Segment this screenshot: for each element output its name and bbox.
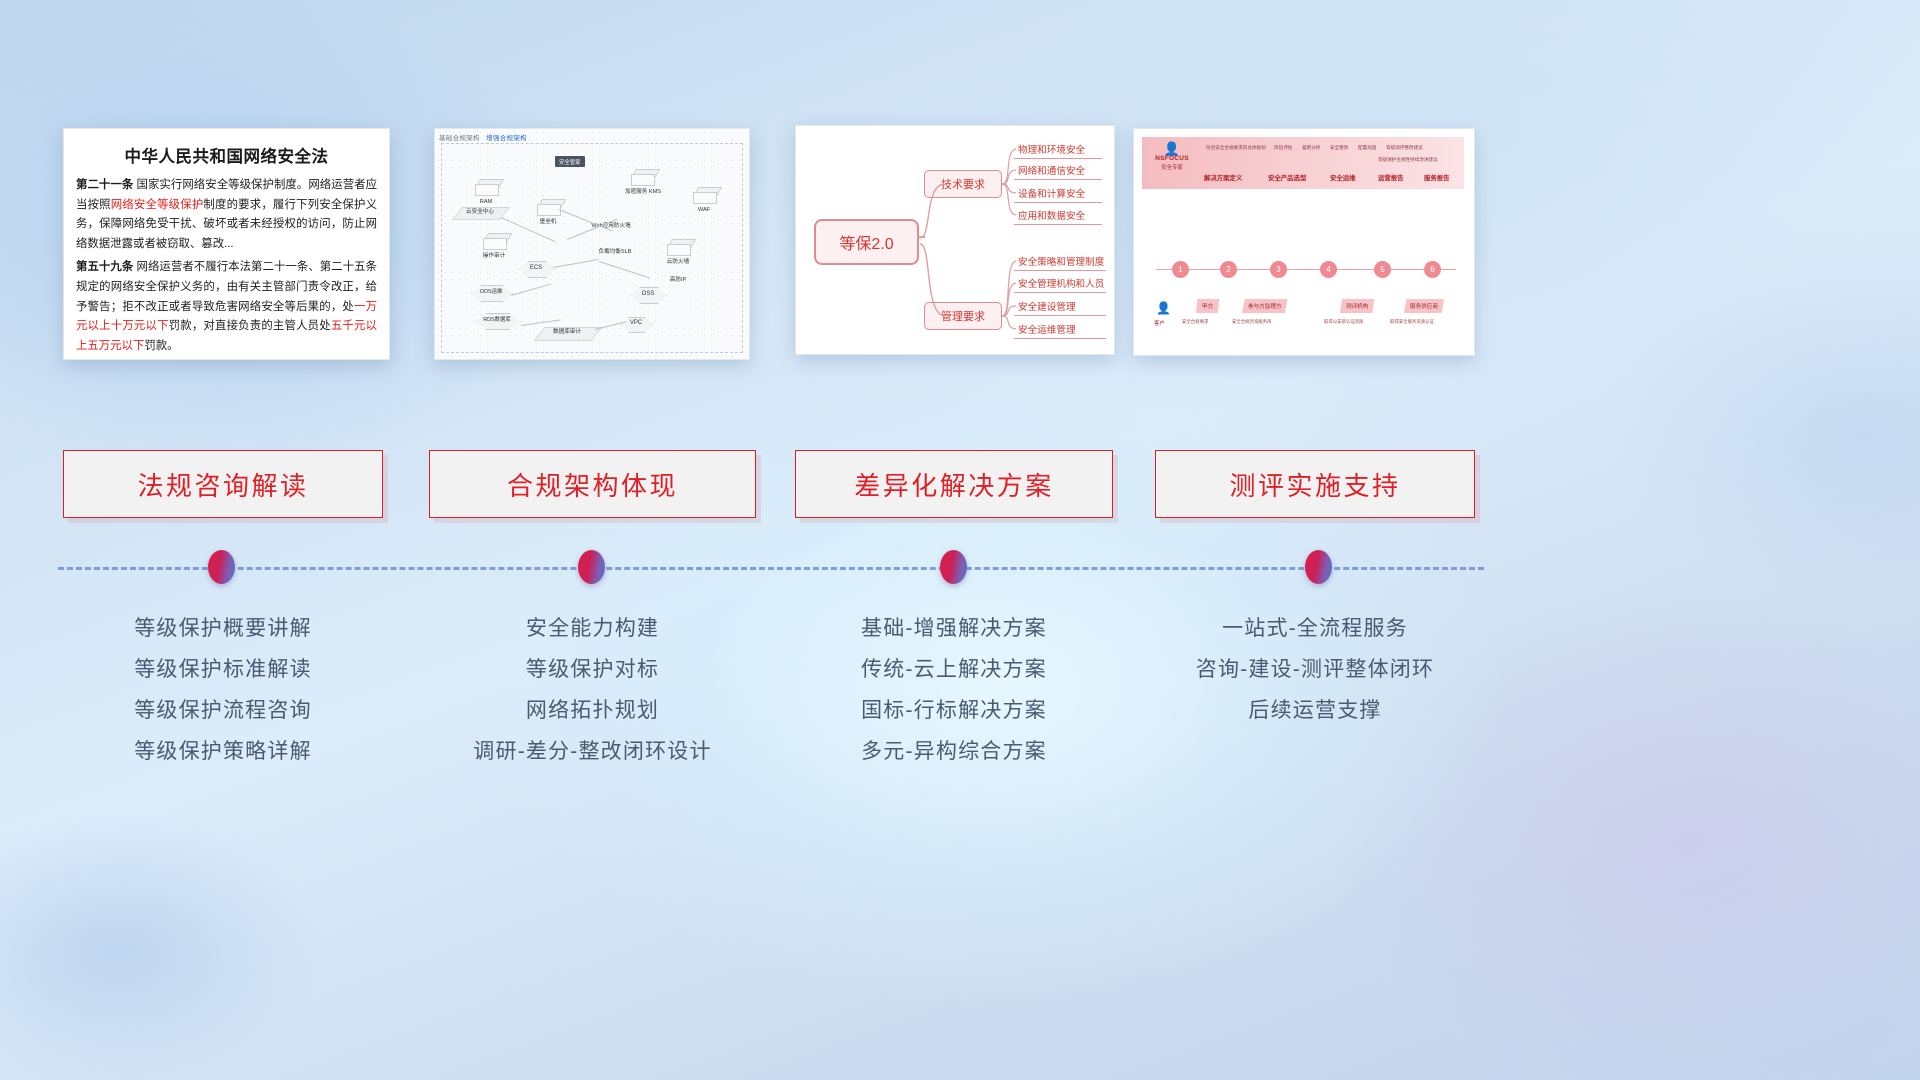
nsfocus-step: 5 <box>1374 261 1391 278</box>
arch-label-kms: 加密服务 KMS <box>617 189 669 196</box>
arch-node-cloud-fw <box>667 239 689 256</box>
arch-node-face <box>537 204 561 216</box>
arch-node-waf2 <box>693 187 715 204</box>
pillar-label-box-1[interactable]: 法规咨询解读 <box>63 450 383 518</box>
timeline-dashed-line <box>58 567 1484 570</box>
pillar-label-3: 差异化解决方案 <box>854 466 1054 503</box>
law-article-59-lead: 第五十九条 <box>76 261 133 273</box>
pillar-items-4: 一站式-全流程服务 咨询-建设-测评整体闭环 后续运营支撑 <box>1155 608 1475 731</box>
arch-node-face <box>693 192 717 204</box>
arch-header-left: 基础合规架构 <box>439 135 480 142</box>
nsfocus-band-item: 等级保护合规性持续改进建议 <box>1378 157 1438 163</box>
pillar-items-1: 等级保护概要讲解 等级保护标准解读 等级保护流程咨询 等级保护策略详解 <box>63 608 383 772</box>
law-paragraph-21: 第二十一条 国家实行网络安全等级保护制度。网络运营者应当按照网络安全等级保护制度… <box>76 176 377 254</box>
nsfocus-band-item: 等级测评整改建议 <box>1386 145 1423 151</box>
mindmap-leaf: 安全运维管理 <box>1014 319 1106 339</box>
list-item: 后续运营支撑 <box>1155 690 1475 731</box>
pillar-list-2: 安全能力构建 等级保护对标 网络拓扑规划 调研-差分-整改闭环设计 <box>429 608 756 772</box>
arch-label-oss: OSS <box>631 291 665 299</box>
nsfocus-step: 6 <box>1424 261 1441 278</box>
nsfocus-step: 3 <box>1270 261 1287 278</box>
timeline-dot-1[interactable] <box>208 550 235 584</box>
arch-node-ram <box>475 179 497 196</box>
nsfocus-caption: 服务报告 <box>1424 173 1450 182</box>
nsfocus-footer-sub: 安全合规咨询服务商 <box>1232 319 1272 325</box>
thumbnail-card-nsfocus[interactable]: 👤 NSFOCUS 安全专家 符合安全合规要求的总体规划 风险评估 差距分析 安… <box>1133 128 1475 356</box>
pillar-items-3: 基础-增强解决方案 传统-云上解决方案 国标-行标解决方案 多元-异构综合方案 <box>795 608 1113 772</box>
mindmap-leaf: 安全策略和管理制度 <box>1014 251 1106 271</box>
list-item: 安全能力构建 <box>429 608 756 649</box>
thumbnail-card-architecture[interactable]: 基础合规架构 增强合规架构 安全管家 RAM 云安全中心 堡垒机 操作审计 <box>434 128 750 360</box>
nsfocus-footer-tag: 甲方 <box>1196 299 1219 313</box>
arch-node-face <box>475 184 499 196</box>
list-item: 国标-行标解决方案 <box>795 690 1113 731</box>
nsfocus-brand-sub: 安全专家 <box>1148 163 1196 171</box>
nsfocus-footer-left-label: 客户 <box>1154 319 1165 327</box>
list-item: 等级保护标准解读 <box>63 649 383 690</box>
list-item: 等级保护对标 <box>429 649 756 690</box>
arch-label-ecs: ECS <box>519 265 553 273</box>
nsfocus-step: 1 <box>1172 261 1189 278</box>
nsfocus-caption: 运营报告 <box>1378 173 1404 182</box>
pillar-list-1: 等级保护概要讲解 等级保护标准解读 等级保护流程咨询 等级保护策略详解 <box>63 608 383 772</box>
architecture-diagram: 基础合规架构 增强合规架构 安全管家 RAM 云安全中心 堡垒机 操作审计 <box>435 129 749 359</box>
nsfocus-step: 4 <box>1320 261 1337 278</box>
nsfocus-step: 2 <box>1220 261 1237 278</box>
nsfocus-footer-tag: 参与方监理方 <box>1242 299 1288 313</box>
mindmap-branch-management: 管理要求 <box>924 302 1002 330</box>
arch-node-bastion <box>537 199 559 216</box>
law-run-highlight: 网络安全等级保护 <box>111 199 204 211</box>
nsfocus-footer-left: 👤 <box>1156 301 1171 315</box>
arch-label-slb: 负载均衡SLB <box>585 249 645 256</box>
nsfocus-timeline: 👤 NSFOCUS 安全专家 符合安全合规要求的总体规划 风险评估 差距分析 安… <box>1134 129 1474 355</box>
thumbnail-card-law[interactable]: 中华人民共和国网络安全法 第二十一条 国家实行网络安全等级保护制度。网络运营者应… <box>63 128 390 360</box>
list-item: 调研-差分-整改闭环设计 <box>429 731 756 772</box>
nsfocus-caption: 安全产品选型 <box>1268 173 1306 182</box>
arch-header-right: 增强合规架构 <box>486 135 527 142</box>
arch-label-oos: OOS运维 <box>471 289 511 296</box>
pillar-label-box-4[interactable]: 测评实施支持 <box>1155 450 1475 518</box>
nsfocus-caption: 安全运维 <box>1330 173 1356 182</box>
law-paragraph-59: 第五十九条 网络运营者不履行本法第二十一条、第二十五条规定的网络安全保护义务的，… <box>76 258 377 356</box>
nsfocus-axis <box>1156 269 1456 270</box>
mindmap-leaf: 应用和数据安全 <box>1014 205 1102 225</box>
arch-label-waf: WAF <box>687 207 721 214</box>
nsfocus-band-item: 风险评估 <box>1274 145 1292 151</box>
arch-label-rds: RDS数据库 <box>475 317 519 324</box>
nsfocus-footer-sub: 取得公安部认证资质 <box>1324 319 1364 325</box>
arch-label-bastion: 堡垒机 <box>531 219 565 226</box>
mindmap-leaf: 安全管理机构和人员 <box>1014 273 1106 293</box>
nsfocus-band-item: 差距分析 <box>1302 145 1320 151</box>
mindmap-leaf: 安全建设管理 <box>1014 296 1106 316</box>
timeline-dot-2[interactable] <box>578 550 605 584</box>
list-item: 咨询-建设-测评整体闭环 <box>1155 649 1475 690</box>
arch-badge-security-butler: 安全管家 <box>555 156 585 167</box>
thumbnail-card-mindmap[interactable]: 等保2.0 技术要求 管理要求 物理和环境安全 网络和通信安全 设备和计算安全 … <box>795 125 1115 355</box>
arch-node-audit <box>483 233 505 250</box>
arch-node-waf <box>631 169 653 186</box>
arch-label-db-audit: 数据库审计 <box>537 329 597 336</box>
list-item: 网络拓扑规划 <box>429 690 756 731</box>
pillar-label-box-3[interactable]: 差异化解决方案 <box>795 450 1113 518</box>
nsfocus-band-item: 符合安全合规要求的总体规划 <box>1206 145 1266 151</box>
mindmap-leaf: 网络和通信安全 <box>1014 160 1102 180</box>
slide-stage: 中华人民共和国网络安全法 第二十一条 国家实行网络安全等级保护制度。网络运营者应… <box>0 0 1920 1080</box>
law-document: 中华人民共和国网络安全法 第二十一条 国家实行网络安全等级保护制度。网络运营者应… <box>64 129 389 359</box>
mindmap-connector <box>919 236 925 238</box>
mindmap-branch-technical: 技术要求 <box>924 170 1002 198</box>
pillar-label-box-2[interactable]: 合规架构体现 <box>429 450 756 518</box>
arch-label-ddos: 高防IP <box>661 277 695 284</box>
mindmap-root: 等保2.0 <box>814 219 919 265</box>
pillar-list-4: 一站式-全流程服务 咨询-建设-测评整体闭环 后续运营支撑 <box>1155 608 1475 731</box>
mindmap: 等保2.0 技术要求 管理要求 物理和环境安全 网络和通信安全 设备和计算安全 … <box>796 126 1114 354</box>
nsfocus-brand: 👤 NSFOCUS 安全专家 <box>1148 143 1196 171</box>
pillar-label-2: 合规架构体现 <box>507 466 678 503</box>
nsfocus-footer-tag: 测评机构 <box>1340 299 1374 313</box>
nsfocus-band-item: 安全整改 <box>1330 145 1348 151</box>
nsfocus-band-item: 配置加固 <box>1358 145 1376 151</box>
person-icon: 👤 <box>1148 143 1196 155</box>
pillar-items-2: 安全能力构建 等级保护对标 网络拓扑规划 调研-差分-整改闭环设计 <box>429 608 756 772</box>
law-article-21-lead: 第二十一条 <box>76 179 133 191</box>
arch-label-ram: RAM <box>471 199 501 206</box>
pillar-label-1: 法规咨询解读 <box>137 466 308 503</box>
nsfocus-footer-tag: 服务供应商 <box>1404 299 1444 313</box>
arch-label-cloud-firewall: 云防火墙 <box>661 259 695 266</box>
list-item: 基础-增强解决方案 <box>795 608 1113 649</box>
arch-node-face <box>631 174 655 186</box>
nsfocus-footer-sub: 取得安全服务资质认证 <box>1390 319 1434 325</box>
list-item: 多元-异构综合方案 <box>795 731 1113 772</box>
nsfocus-caption: 解决方案定义 <box>1204 173 1242 182</box>
list-item: 等级保护流程咨询 <box>63 690 383 731</box>
law-title: 中华人民共和国网络安全法 <box>76 143 377 167</box>
list-item: 等级保护策略详解 <box>63 731 383 772</box>
pillar-label-4: 测评实施支持 <box>1229 466 1400 503</box>
law-run: 罚款，对直接负责的主管人员处 <box>169 320 331 332</box>
mindmap-leaf: 设备和计算安全 <box>1014 183 1102 203</box>
nsfocus-footer-sub: 安全合规要求 <box>1182 319 1208 325</box>
law-run: 罚款。 <box>144 340 178 352</box>
arch-node-face <box>667 244 691 256</box>
mindmap-leaf: 物理和环境安全 <box>1014 139 1102 159</box>
arch-node-face <box>483 238 507 250</box>
pillar-list-3: 基础-增强解决方案 传统-云上解决方案 国标-行标解决方案 多元-异构综合方案 <box>795 608 1113 772</box>
list-item: 等级保护概要讲解 <box>63 608 383 649</box>
arch-header: 基础合规架构 增强合规架构 <box>439 132 527 142</box>
arch-label-audit: 操作审计 <box>477 253 511 260</box>
nsfocus-brand-name: NSFOCUS <box>1148 155 1196 162</box>
list-item: 一站式-全流程服务 <box>1155 608 1475 649</box>
list-item: 传统-云上解决方案 <box>795 649 1113 690</box>
timeline-dot-4[interactable] <box>1305 550 1332 584</box>
arch-label-cloud-security-center: 云安全中心 <box>455 209 505 216</box>
timeline-dot-3[interactable] <box>940 550 967 584</box>
